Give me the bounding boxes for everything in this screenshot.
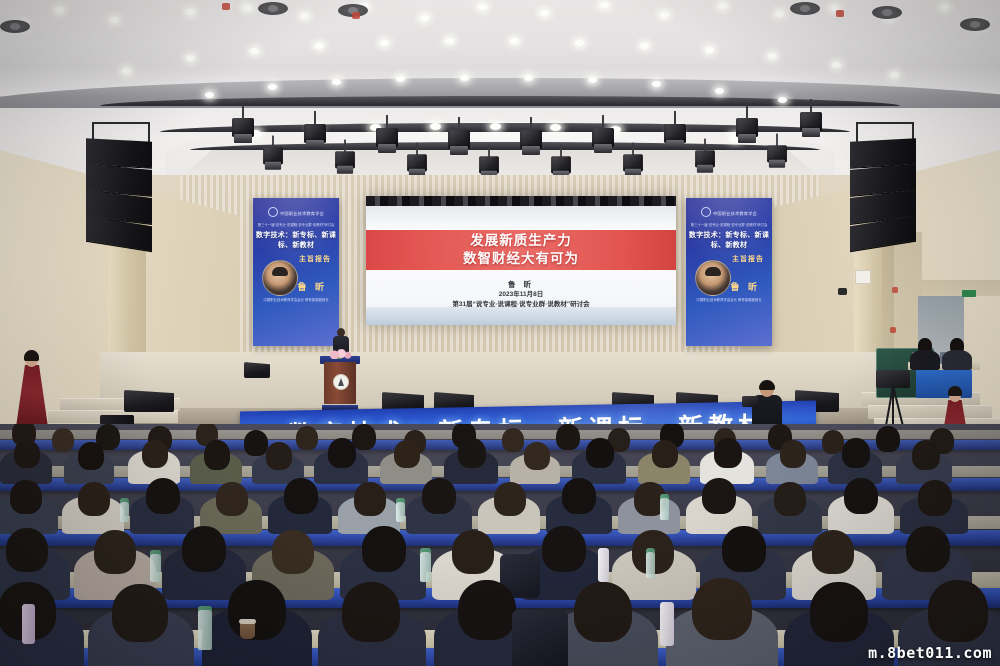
light-yoke [704,139,706,152]
light-yoke [674,111,676,125]
ceiling-downlight [490,123,501,130]
light-yoke [776,134,778,147]
light-yoke [242,105,244,119]
attendee-head [78,482,110,516]
light-lens [306,140,324,149]
ceiling-downlight [778,97,787,103]
ceiling-downlight [430,123,441,130]
light-yoke [314,111,316,125]
ceiling-downlight [550,124,561,131]
light-lens [265,162,281,170]
conference-photo: 发展新质生产力 数智财经大有可为 鲁 昕 2023年11月8日 第31届“说专业… [0,0,1000,666]
stage-par-light [335,151,355,174]
stage-monitor [244,362,270,378]
attendee-head [586,438,614,468]
ceiling-downlight [186,9,195,15]
attendee-head [328,438,356,468]
attendee-head [702,478,736,514]
ceiling-downlight [588,77,597,83]
audience-area [0,424,1000,666]
ceiling-downlight [186,55,195,61]
attendee-head [458,580,516,640]
banner-left-org: 中国职业技术教育学会 [253,207,339,217]
attendee-head [714,438,742,468]
stage-par-light [800,112,822,138]
ceiling-downlight [768,53,777,59]
smoke-detector-icon [352,12,360,19]
light-yoke [488,145,490,158]
attendee-head [912,440,940,470]
banner-left-title: 数字技术：新专标、新课标、新教材 [253,230,339,250]
attendee-head [502,428,524,452]
attendee-head [342,582,400,642]
smoke-detector-icon [890,327,896,333]
wall-camera-icon [838,288,847,295]
ceiling-downlight [940,4,949,10]
attendee-head [352,424,376,450]
attendee-head [812,530,854,574]
banner-left: 中国职业技术教育学会 第三十一届“说专业·说课程·说专业群·说教材”研讨会 数字… [253,198,339,346]
light-lens [337,166,353,174]
attendee-head [362,526,406,572]
light-yoke [344,140,346,153]
light-lens [522,146,540,155]
attendee-head [494,482,526,516]
stage-par-light [767,145,787,168]
water-bottle [420,548,431,582]
ceiling-downlight [510,38,519,44]
ceiling-downlight [652,81,661,87]
light-lens [378,144,396,153]
ceiling-downlight [250,48,259,54]
ceiling-downlight [478,4,487,10]
stage-par-light [520,130,542,156]
stage-par-light [304,124,326,150]
water-bottle [150,550,161,582]
light-yoke [632,143,634,156]
ceiling-downlight [718,3,727,9]
attendee-head [844,478,878,514]
stage-par-light [448,130,470,156]
attendee-head [216,482,248,516]
banner-left-speaker-name: 鲁 昕 [297,280,327,293]
attendee-head [422,478,456,514]
stage-par-light [263,147,283,170]
banner-right-report-label: 主旨报告 [732,254,764,264]
attendant-hair [24,350,39,361]
av-operator-body [910,350,940,370]
slide-title-line1: 发展新质生产力 [366,232,676,250]
attendant-dress [16,365,48,427]
banner-right-org: 中国职业技术教育学会 [686,207,772,217]
water-bottle [120,498,129,522]
banner-right-speaker-portrait [695,260,731,296]
ceiling-downlight [332,79,341,85]
attendee-head [6,528,48,572]
light-yoke [602,115,604,129]
coffee-cup [240,622,255,639]
light-lens [234,134,252,143]
attendee-head [928,580,988,642]
ceiling-downlight [396,76,405,82]
videographer-hair [759,380,775,390]
attendee-head [906,526,950,572]
ceiling-downlight [890,72,899,78]
slide-date: 2023年11月8日 [366,290,676,300]
light-yoke [810,99,812,113]
attendee-head [10,480,42,514]
water-bottle [646,548,655,578]
ceiling-downlight [715,88,724,94]
attendee-head [810,582,868,642]
attendee-head [842,438,870,468]
light-lens [666,140,684,149]
smoke-detector-icon [836,10,844,17]
attendee-head [354,482,386,516]
banner-left-speaker-org: 中国职业技术教育学会会长 教育部原副部长 [253,298,339,303]
banner-left-report-label: 主旨报告 [299,254,331,264]
attendee-head [266,442,292,470]
ceiling-downlight [445,38,454,44]
attendee-head [296,426,318,450]
ceiling-downlight [110,17,119,23]
screen-top-trim [366,196,676,206]
ceiling-downlight [268,84,277,90]
light-yoke [272,136,274,149]
ceiling-downlight [205,92,214,98]
attendee-head [876,426,900,452]
attendee-head [394,440,420,468]
ceiling-downlight [832,62,841,68]
attendant-hair [948,386,962,396]
attendee-head [146,478,180,514]
attendee-head [574,582,632,642]
attendee-head [722,526,766,572]
light-lens [450,146,468,155]
light-lens [697,165,713,173]
society-logo-icon [268,207,278,217]
ceiling-fan-icon [258,2,288,15]
attendee-head [244,430,268,456]
banner-left-subtitle: 第三十一届“说专业·说课程·说专业群·说教材”研讨会 [253,222,339,227]
backpack [512,610,568,666]
light-yoke [560,145,562,158]
ceiling-downlight [420,15,429,21]
attendee-head [458,438,486,468]
light-yoke [530,117,532,131]
thermos-bottle [598,548,609,582]
banner-left-speaker-portrait [262,260,298,296]
banner-right: 中国职业技术教育学会 第三十一届“说专业·说课程·说专业群·说教材”研讨会 数字… [686,198,772,346]
line-array-speaker-right [850,140,916,260]
stage-par-light [736,118,758,144]
ceiling-downlight [640,43,649,49]
attendee-head [52,428,74,452]
ceiling-downlight [775,11,784,17]
attendee-head [204,440,230,470]
ceiling-downlight [705,47,714,53]
podium-emblem-icon [333,374,349,390]
ceiling-downlight [55,7,64,13]
attendee-head [918,480,952,516]
led-presentation-screen: 发展新质生产力 数智财经大有可为 鲁 昕 2023年11月8日 第31届“说专业… [366,196,676,325]
slide-title: 发展新质生产力 数智财经大有可为 [366,232,676,268]
screen-glare [366,206,676,230]
screen-bottom-glare [366,307,676,325]
attendee-head [228,580,286,640]
smoke-detector-icon [892,287,898,293]
podium [320,352,360,410]
slide-speaker: 鲁 昕 [366,280,676,290]
attendee-head [272,530,314,574]
light-lens [802,128,820,137]
slide-subtext: 鲁 昕 2023年11月8日 第31届“说专业·说课程·说专业群·说教材”研讨会 [366,280,676,310]
handheld-camera [742,396,758,407]
banner-right-speaker-name: 鲁 昕 [730,280,760,293]
water-bottle [660,494,669,520]
attendee-head [774,482,806,516]
ceiling-fan-icon [872,6,902,19]
attendee-head [182,526,226,572]
stage-par-light [592,128,614,154]
ceiling-downlight [660,12,669,18]
attendee-head [652,440,678,468]
attendee-head [556,424,580,450]
light-lens [738,134,756,143]
attendee-head [94,530,136,574]
attendant-left [12,352,52,430]
attendee-head [780,440,806,468]
society-logo-icon [701,207,711,217]
light-yoke [746,105,748,119]
ceiling-downlight [524,75,533,81]
light-lens [594,144,612,153]
exit-sign-icon [962,290,976,297]
av-operator-body [942,350,972,370]
banner-right-title: 数字技术：新专标、新课标、新教材 [686,230,772,250]
attendee-head [524,442,550,470]
attendee-head [14,440,40,468]
thermos-bottle [660,602,674,646]
stage-par-light [232,118,254,144]
attendee-head [284,478,318,514]
attendee-head [542,526,586,572]
attendee-head [452,530,494,574]
watermark: m.8bet011.com [868,644,992,662]
podium-flowers [326,349,354,359]
slide-title-line2: 数智财经大有可为 [366,250,676,268]
attendee-head [78,442,104,470]
ceiling-downlight [575,40,584,46]
wall-ledge [922,280,1000,296]
attendee-head [562,478,596,514]
banner-right-speaker-org: 中国职业技术教育学会会长 教育部原副部长 [686,298,772,303]
attendee-head [692,578,752,640]
line-array-speaker-left [86,140,152,260]
ceiling-downlight [540,10,549,16]
stage-monitor [124,390,174,412]
thermos-bottle [22,604,35,644]
ceiling-downlight [122,68,131,74]
water-bottle [396,498,405,522]
light-lens [769,160,785,168]
banner-right-subtitle: 第三十一届“说专业·说课程·说专业群·说教材”研讨会 [686,222,772,227]
ceiling-downlight [460,75,469,81]
attendee-head [822,430,844,454]
ceiling-downlight [243,5,252,11]
ceiling-downlight [380,40,389,46]
ceiling-fan-icon [790,2,820,15]
ceiling-downlight [300,13,309,19]
attendee-head [112,584,168,642]
attendee-head [142,440,168,468]
ceiling-fan-icon [960,18,990,31]
ceiling-downlight [600,2,609,8]
ceiling-downlight [315,43,324,49]
water-bottle [198,606,212,650]
wall-plate [855,270,871,284]
light-yoke [386,115,388,129]
smoke-detector-icon [222,3,230,10]
ceiling-fan-icon [0,20,30,33]
light-yoke [458,117,460,131]
stage-par-light [695,150,715,173]
light-yoke [416,143,418,156]
stage-par-light [664,124,686,150]
stage-par-light [376,128,398,154]
